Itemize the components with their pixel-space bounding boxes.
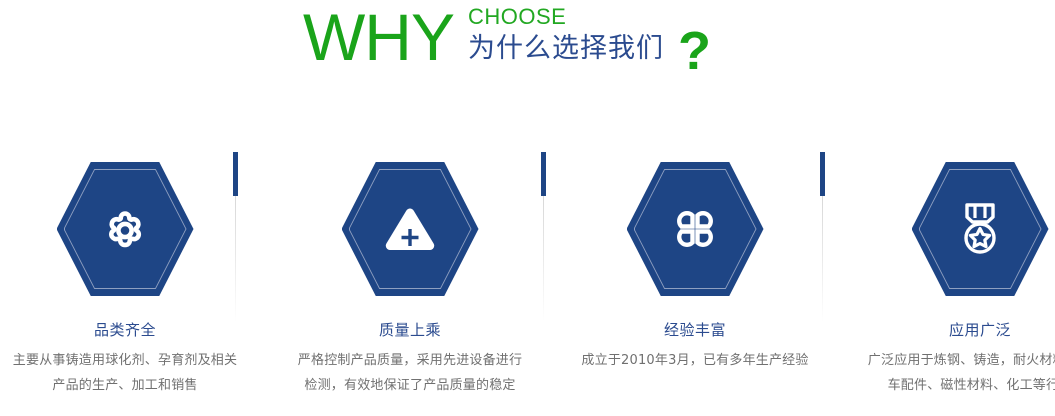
clover-icon [627,162,764,296]
feature-title: 质量上乘 [285,320,535,340]
section-heading: WHY CHOOSE 为什么选择我们 ? [0,0,1055,95]
heading-question-mark: ? [678,24,711,78]
feature-title: 经验丰富 [570,320,820,340]
feature-description: 成立于2010年3月，已有多年生产经验 [570,348,820,373]
heading-chinese-subtitle: 为什么选择我们 [468,32,664,66]
triangle-plus-icon [342,162,479,296]
medal-icon [912,162,1049,296]
feature-title: 品类齐全 [0,320,250,340]
heading-mid-block: CHOOSE 为什么选择我们 [468,4,664,66]
hexagon-badge [342,162,479,296]
feature-title: 应用广泛 [855,320,1055,340]
feature-description: 主要从事铸造用球化剂、孕育剂及相关产品的生产、加工和销售 [0,348,250,398]
feature-description: 严格控制产品质量，采用先进设备进行检测，有效地保证了产品质量的稳定 [285,348,535,398]
feature-column-1[interactable]: 品类齐全 主要从事铸造用球化剂、孕育剂及相关产品的生产、加工和销售 [0,150,250,398]
feature-description: 广泛应用于炼钢、铸造，耐火材料、汽车配件、磁性材料、化工等行业 [855,348,1055,398]
hexagon-badge [912,162,1049,296]
hexagon-badge [627,162,764,296]
feature-column-3[interactable]: 经验丰富 成立于2010年3月，已有多年生产经验 [570,150,820,373]
heading-why-word: WHY [303,4,454,70]
feature-column-2[interactable]: 质量上乘 严格控制产品质量，采用先进设备进行检测，有效地保证了产品质量的稳定 [285,150,535,398]
heading-choose-word: CHOOSE [468,4,664,30]
heading-inner: WHY CHOOSE 为什么选择我们 ? [303,2,711,78]
gear-icon [57,162,194,296]
feature-columns: 品类齐全 主要从事铸造用球化剂、孕育剂及相关产品的生产、加工和销售 质量上乘 严… [0,150,1055,416]
feature-column-4[interactable]: 应用广泛 广泛应用于炼钢、铸造，耐火材料、汽车配件、磁性材料、化工等行业 [855,150,1055,398]
hexagon-badge [57,162,194,296]
